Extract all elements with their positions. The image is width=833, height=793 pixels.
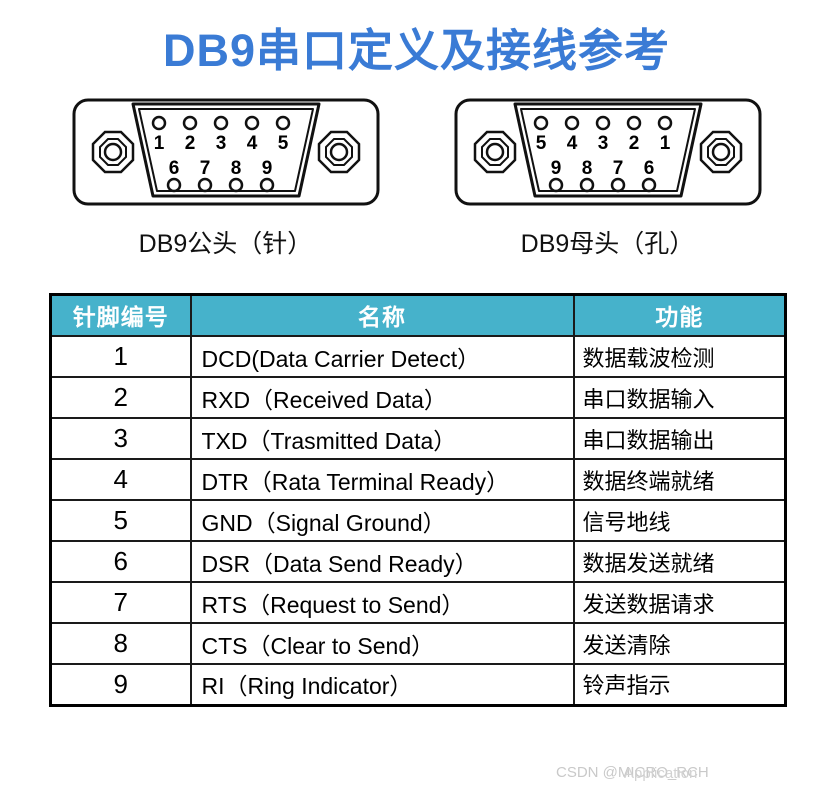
pin-function: 串口数据输入 [574, 377, 786, 418]
db9-female-caption: DB9母头（孔） [521, 224, 695, 260]
column-header-func: 功能 [574, 294, 786, 336]
pinout-table: 针脚编号 名称 功能 1 DCD(Data Carrier Detect） 数据… [49, 293, 787, 707]
table-row: 3 TXD（Trasmitted Data） 串口数据输出 [51, 418, 786, 459]
pin-label: 4 [246, 133, 257, 154]
pin-label: 7 [199, 158, 210, 179]
pin-label: 2 [628, 133, 639, 154]
table-row: 1 DCD(Data Carrier Detect） 数据载波检测 [51, 336, 786, 377]
column-header-name: 名称 [191, 294, 574, 336]
column-header-pin: 针脚编号 [51, 294, 191, 336]
pinout-table-container: 针脚编号 名称 功能 1 DCD(Data Carrier Detect） 数据… [49, 293, 784, 707]
pin-name: CTS（Clear to Send） [191, 623, 574, 664]
pin-function: 数据终端就绪 [574, 459, 786, 500]
pin-label: 1 [659, 133, 670, 154]
pin-function: 信号地线 [574, 500, 786, 541]
pin-function: 铃声指示 [574, 664, 786, 705]
table-row: 4 DTR（Rata Terminal Ready） 数据终端就绪 [51, 459, 786, 500]
table-row: 8 CTS（Clear to Send） 发送清除 [51, 623, 786, 664]
pin-number: 7 [51, 582, 191, 623]
pin-number: 9 [51, 664, 191, 705]
pin-label: 6 [643, 158, 654, 179]
pin-label: 1 [153, 133, 164, 154]
db9-female-connector: 5 4 3 2 1 9 8 7 6 DB9母头（孔） [453, 96, 763, 260]
table-row: 7 RTS（Request to Send） 发送数据请求 [51, 582, 786, 623]
table-row: 6 DSR（Data Send Ready） 数据发送就绪 [51, 541, 786, 582]
pin-function: 串口数据输出 [574, 418, 786, 459]
db9-male-caption: DB9公头（针） [139, 224, 313, 260]
pinout-table-body: 1 DCD(Data Carrier Detect） 数据载波检测 2 RXD（… [51, 336, 786, 705]
watermark: CSDN @MICRO_RCH Application [556, 764, 709, 781]
pin-name: RTS（Request to Send） [191, 582, 574, 623]
connector-diagrams: 1 2 3 4 5 6 7 8 9 DB9公头（针） [0, 96, 833, 260]
pin-number: 3 [51, 418, 191, 459]
pin-name: DTR（Rata Terminal Ready） [191, 459, 574, 500]
pin-name: RI（Ring Indicator） [191, 664, 574, 705]
pin-label: 9 [550, 158, 561, 179]
pin-label: 9 [261, 158, 272, 179]
db9-female-drawing: 5 4 3 2 1 9 8 7 6 [453, 96, 763, 211]
pin-name: TXD（Trasmitted Data） [191, 418, 574, 459]
pin-name: GND（Signal Ground） [191, 500, 574, 541]
pin-label: 7 [612, 158, 623, 179]
pin-function: 发送清除 [574, 623, 786, 664]
pin-label: 2 [184, 133, 195, 154]
pin-label: 8 [230, 158, 241, 179]
page-title: DB9串口定义及接线参考 [0, 0, 833, 76]
table-header-row: 针脚编号 名称 功能 [51, 294, 786, 336]
pin-function: 发送数据请求 [574, 582, 786, 623]
pin-name: RXD（Received Data） [191, 377, 574, 418]
pin-number: 4 [51, 459, 191, 500]
table-row: 9 RI（Ring Indicator） 铃声指示 [51, 664, 786, 705]
table-row: 5 GND（Signal Ground） 信号地线 [51, 500, 786, 541]
pin-label: 3 [597, 133, 608, 154]
pin-number: 1 [51, 336, 191, 377]
pin-number: 2 [51, 377, 191, 418]
pin-label: 3 [215, 133, 226, 154]
table-row: 2 RXD（Received Data） 串口数据输入 [51, 377, 786, 418]
pin-label: 6 [168, 158, 179, 179]
watermark-text-a: CSDN @MICRO_RCH [556, 764, 709, 781]
pin-function: 数据载波检测 [574, 336, 786, 377]
db9-male-drawing: 1 2 3 4 5 6 7 8 9 [71, 96, 381, 211]
watermark-text-b: Application [624, 765, 697, 782]
pin-number: 5 [51, 500, 191, 541]
pin-function: 数据发送就绪 [574, 541, 786, 582]
pin-number: 8 [51, 623, 191, 664]
pin-name: DSR（Data Send Ready） [191, 541, 574, 582]
db9-male-connector: 1 2 3 4 5 6 7 8 9 DB9公头（针） [71, 96, 381, 260]
pin-label: 4 [566, 133, 577, 154]
pin-number: 6 [51, 541, 191, 582]
pin-label: 5 [277, 133, 288, 154]
pin-name: DCD(Data Carrier Detect） [191, 336, 574, 377]
pin-label: 8 [581, 158, 592, 179]
pin-label: 5 [535, 133, 546, 154]
